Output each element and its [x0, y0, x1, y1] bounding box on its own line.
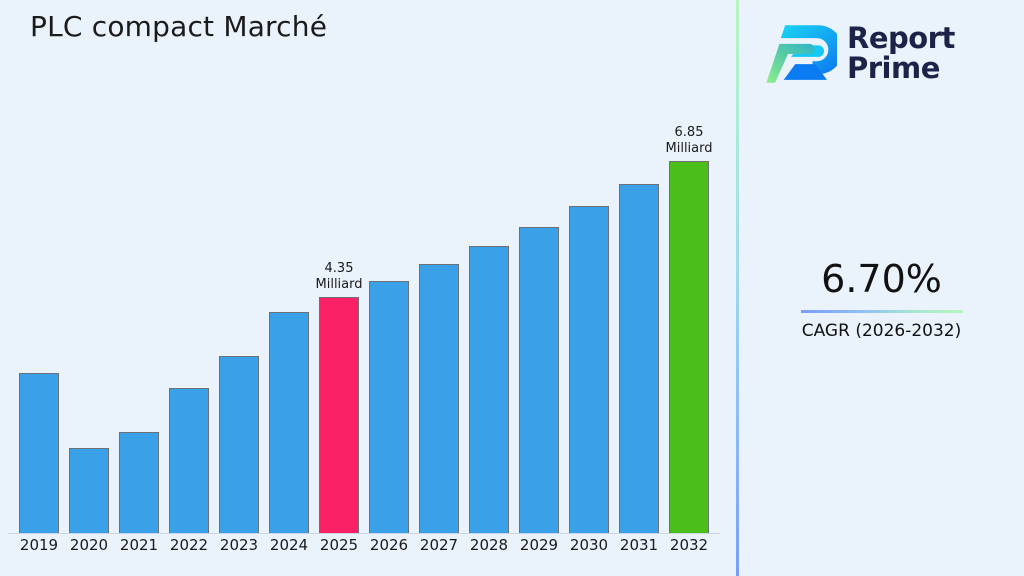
cagr-label: CAGR (2026-2032)	[739, 319, 1024, 343]
bar-2026[interactable]	[369, 281, 409, 533]
bar-2023[interactable]	[219, 356, 259, 533]
bar-2032[interactable]: 6.85Milliard	[669, 161, 709, 533]
brand-panel: Report Prime 6.70% CAGR (2026-2032)	[739, 0, 1024, 576]
x-axis-tick-2032: 2032	[662, 536, 716, 554]
bar-2030[interactable]	[569, 206, 609, 533]
bar-2021[interactable]	[119, 432, 159, 533]
bar-rect-2026[interactable]	[369, 281, 409, 533]
bar-2027[interactable]	[419, 264, 459, 533]
bar-rect-2024[interactable]	[269, 312, 309, 533]
chart-panel: PLC compact Marché 4.35Milliard6.85Milli…	[0, 0, 737, 576]
bar-unit-2032: Milliard	[666, 141, 713, 157]
x-axis-tick-2019: 2019	[12, 536, 66, 554]
bar-value-2025: 4.35	[316, 261, 363, 277]
x-axis-tick-2022: 2022	[162, 536, 216, 554]
bar-rect-2022[interactable]	[169, 388, 209, 533]
x-axis-tick-2030: 2030	[562, 536, 616, 554]
bar-value-label-2032: 6.85Milliard	[666, 125, 713, 157]
x-axis-tick-2028: 2028	[462, 536, 516, 554]
bar-rect-2027[interactable]	[419, 264, 459, 533]
x-axis-tick-2029: 2029	[512, 536, 566, 554]
bar-2029[interactable]	[519, 227, 559, 533]
bar-rect-2031[interactable]	[619, 184, 659, 533]
bar-value-label-2025: 4.35Milliard	[316, 261, 363, 293]
bar-2020[interactable]	[69, 448, 109, 533]
bar-rect-2023[interactable]	[219, 356, 259, 533]
x-axis-labels: 2019202020212022202320242025202620272028…	[0, 536, 737, 566]
bar-2025[interactable]: 4.35Milliard	[319, 297, 359, 533]
x-axis-tick-2027: 2027	[412, 536, 466, 554]
x-axis-tick-2020: 2020	[62, 536, 116, 554]
bar-unit-2025: Milliard	[316, 277, 363, 293]
report-prime-logo-mark	[765, 19, 837, 89]
cagr-block: 6.70% CAGR (2026-2032)	[739, 255, 1024, 343]
bar-2031[interactable]	[619, 184, 659, 533]
report-prime-logo: Report Prime	[765, 12, 1005, 96]
axis-baseline	[8, 533, 720, 534]
plot-area: 4.35Milliard6.85Milliard	[0, 120, 737, 535]
cagr-value: 6.70%	[739, 255, 1024, 303]
bar-2019[interactable]	[19, 373, 59, 533]
bar-2028[interactable]	[469, 246, 509, 533]
bar-2024[interactable]	[269, 312, 309, 533]
x-axis-tick-2025: 2025	[312, 536, 366, 554]
bar-rect-2025[interactable]	[319, 297, 359, 533]
bar-2022[interactable]	[169, 388, 209, 533]
bar-rect-2021[interactable]	[119, 432, 159, 533]
cagr-divider-rule	[801, 310, 963, 313]
chart-screenshot: PLC compact Marché 4.35Milliard6.85Milli…	[0, 0, 1024, 576]
x-axis-tick-2021: 2021	[112, 536, 166, 554]
bar-rect-2030[interactable]	[569, 206, 609, 533]
bar-rect-2029[interactable]	[519, 227, 559, 533]
x-axis-tick-2031: 2031	[612, 536, 666, 554]
bar-value-2032: 6.85	[666, 125, 713, 141]
bar-rect-2028[interactable]	[469, 246, 509, 533]
bar-rect-2020[interactable]	[69, 448, 109, 533]
logo-wordmark: Report Prime	[847, 24, 955, 83]
x-axis-tick-2024: 2024	[262, 536, 316, 554]
x-axis-tick-2023: 2023	[212, 536, 266, 554]
bar-rect-2032[interactable]	[669, 161, 709, 533]
page-title: PLC compact Marché	[30, 10, 327, 43]
logo-line-2: Prime	[847, 51, 940, 85]
bar-rect-2019[interactable]	[19, 373, 59, 533]
x-axis-tick-2026: 2026	[362, 536, 416, 554]
